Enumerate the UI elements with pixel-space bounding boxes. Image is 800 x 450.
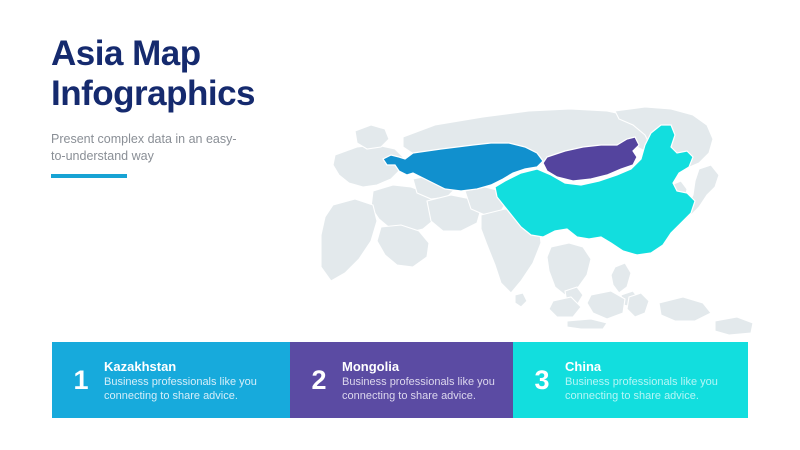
card-description: Business professionals like you connecti…: [342, 375, 495, 403]
country-indonesia-papua: [659, 297, 711, 321]
region-africa-edge: [321, 199, 377, 281]
card-title: Kazakhstan: [104, 359, 257, 374]
country-card-china[interactable]: 3 China Business professionals like you …: [513, 342, 748, 418]
card-body: China Business professionals like you co…: [565, 358, 718, 403]
region-arabia: [377, 225, 429, 267]
region-europe: [333, 145, 403, 187]
region-oceania-edge: [715, 317, 753, 335]
card-body: Kazakhstan Business professionals like y…: [104, 358, 257, 403]
card-title: China: [565, 359, 718, 374]
card-description: Business professionals like you connecti…: [565, 375, 718, 403]
card-number: 1: [66, 367, 96, 394]
card-title: Mongolia: [342, 359, 495, 374]
page-subtitle: Present complex data in an easy- to-unde…: [51, 131, 266, 165]
card-number: 3: [527, 367, 557, 394]
country-card-mongolia[interactable]: 2 Mongolia Business professionals like y…: [290, 342, 513, 418]
country-sri-lanka: [515, 293, 527, 307]
region-indochina: [547, 243, 591, 295]
asia-map-svg: [315, 95, 785, 335]
asia-map: [315, 95, 785, 335]
slide-canvas: Asia Map Infographics Present complex da…: [0, 0, 800, 450]
country-indonesia-sulawesi: [627, 293, 649, 317]
card-body: Mongolia Business professionals like you…: [342, 358, 495, 403]
country-philippines: [611, 263, 631, 293]
country-indonesia-java: [567, 319, 607, 329]
accent-rule: [51, 174, 127, 178]
country-indonesia-borneo: [587, 291, 625, 319]
country-card-kazakhstan[interactable]: 1 Kazakhstan Business professionals like…: [52, 342, 290, 418]
page-title: Asia Map Infographics: [51, 34, 351, 114]
region-scandinavia: [355, 125, 389, 149]
card-number: 2: [304, 367, 334, 394]
card-description: Business professionals like you connecti…: [104, 375, 257, 403]
title-block: Asia Map Infographics Present complex da…: [51, 34, 351, 165]
country-cards-strip: 1 Kazakhstan Business professionals like…: [52, 342, 748, 418]
